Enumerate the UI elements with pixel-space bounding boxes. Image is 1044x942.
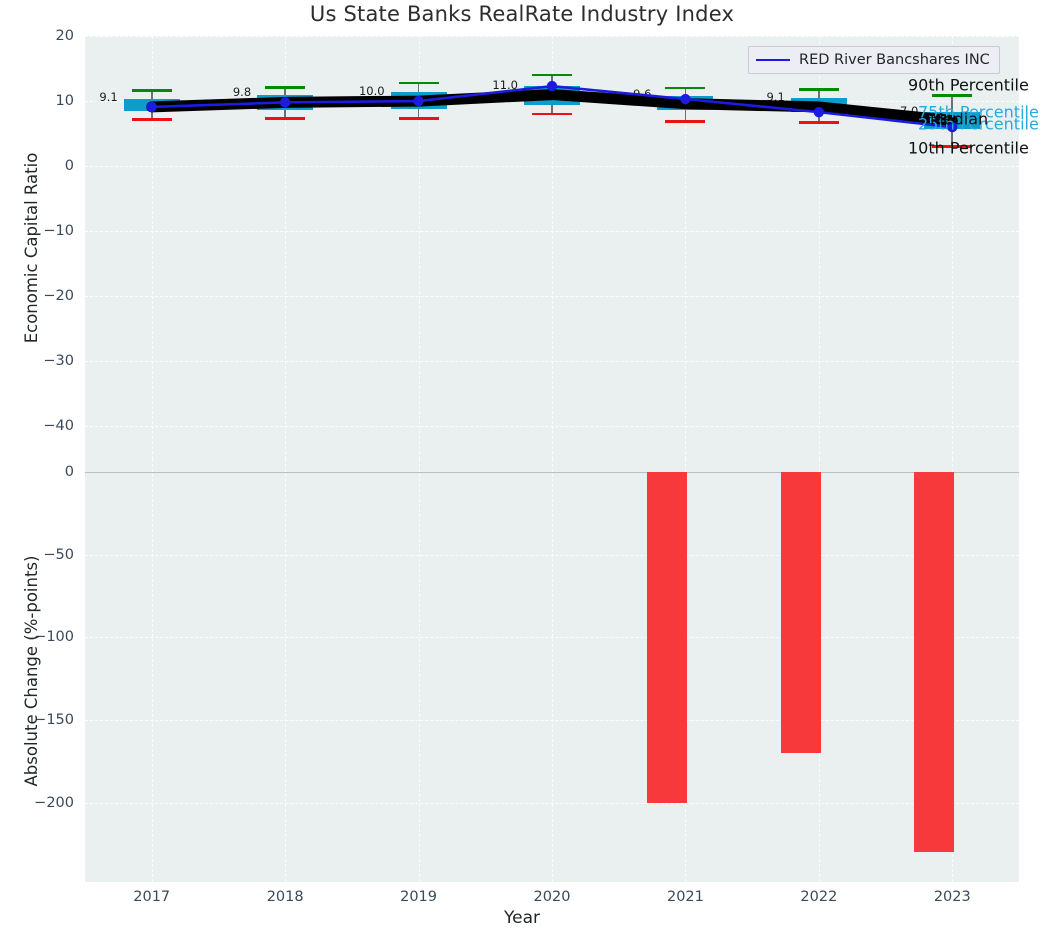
x-axis-label: Year (0, 908, 1044, 928)
p90-cap (132, 89, 172, 92)
median-value-label: 7.0 (900, 104, 918, 118)
p10-cap (399, 117, 439, 120)
bottom-plot-panel (85, 459, 1019, 882)
x-tick-label-2021: 2021 (645, 889, 725, 905)
legend-line-swatch (756, 59, 790, 61)
x-tick-label-2017: 2017 (112, 889, 192, 905)
p90-cap (799, 88, 839, 91)
x-tick-label-2018: 2018 (245, 889, 325, 905)
p10-cap (132, 118, 172, 121)
vertical-gridline (552, 459, 553, 882)
iqr-box (657, 96, 713, 110)
median-annotation: Median (930, 110, 988, 129)
x-tick-label-2019: 2019 (379, 889, 459, 905)
median-value-label: 11.0 (492, 78, 518, 92)
p90-cap (665, 87, 705, 90)
x-tick-label-2023: 2023 (912, 889, 992, 905)
y-tick-label: 20 (0, 28, 74, 44)
p90-cap (399, 82, 439, 85)
legend-label-company: RED River Bancshares INC (799, 52, 990, 68)
top-y-axis-label: Economic Capital Ratio (22, 152, 41, 343)
y-tick-label: −30 (0, 353, 74, 369)
p10-cap (532, 113, 572, 116)
median-value-label: 9.1 (767, 90, 785, 104)
bar-2023 (914, 472, 954, 852)
chart-title: Us State Banks RealRate Industry Index (0, 2, 1044, 26)
vertical-gridline (152, 459, 153, 882)
x-tick-label-2020: 2020 (512, 889, 592, 905)
iqr-box (257, 95, 313, 110)
iqr-box (791, 98, 847, 112)
iqr-box (124, 99, 180, 111)
y-tick-label: −200 (0, 795, 74, 811)
p10-cap (265, 117, 305, 120)
x-tick-label-2022: 2022 (779, 889, 859, 905)
p90-annotation: 90th Percentile (908, 76, 1029, 95)
p10-annotation: 10th Percentile (908, 139, 1029, 158)
top-plot-panel: 9.19.810.011.09.69.17.0 (85, 36, 1019, 459)
p10-cap (665, 120, 705, 123)
p10-cap (799, 121, 839, 124)
bar-2021 (647, 472, 687, 802)
median-value-label: 9.8 (233, 85, 251, 99)
median-value-label: 9.6 (633, 87, 651, 101)
bar-2022 (781, 472, 821, 753)
legend: RED River Bancshares INC (748, 46, 1000, 74)
p90-cap (532, 74, 572, 77)
y-tick-label: −40 (0, 418, 74, 434)
y-tick-label: 0 (0, 464, 74, 480)
y-tick-label: 10 (0, 93, 74, 109)
vertical-gridline (285, 459, 286, 882)
median-value-label: 10.0 (359, 84, 385, 98)
median-value-label: 9.1 (99, 90, 117, 104)
chart-root: Us State Banks RealRate Industry Index 9… (0, 0, 1044, 942)
iqr-box (391, 92, 447, 109)
iqr-box (524, 86, 580, 105)
vertical-gridline (419, 459, 420, 882)
bottom-y-axis-label: Absolute Change (%-points) (22, 555, 41, 786)
p90-cap (265, 86, 305, 89)
